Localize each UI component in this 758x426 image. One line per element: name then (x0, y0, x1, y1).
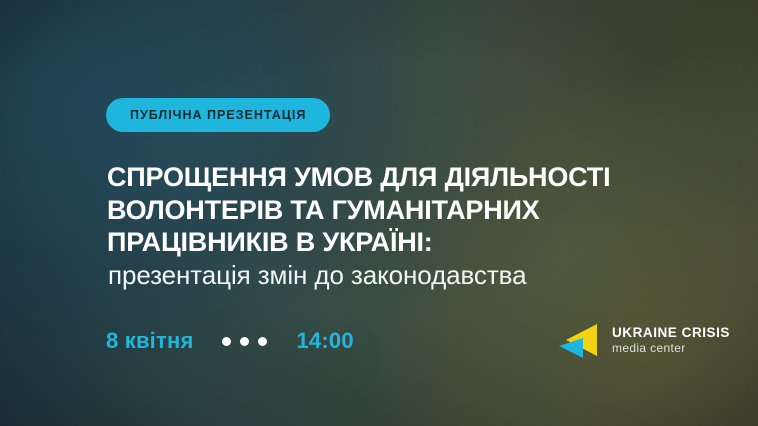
headline-line-1: СПРОЩЕННЯ УМОВ ДЛЯ ДІЯЛЬНОСТІ (107, 161, 707, 194)
headline-line-3: ПРАЦІВНИКІВ В УКРАЇНІ: (107, 226, 707, 259)
separator-dot (222, 337, 231, 346)
event-date: 8 квітня (106, 328, 194, 354)
separator-dot (240, 337, 249, 346)
dots-separator-icon (222, 337, 267, 346)
arrow-mark-icon (553, 318, 601, 362)
separator-dot (258, 337, 267, 346)
event-time: 14:00 (297, 328, 354, 354)
logo-subtitle: media center (612, 342, 730, 354)
ukraine-crisis-media-center-logo: UKRAINE CRISIS media center (553, 318, 730, 362)
page-title: СПРОЩЕННЯ УМОВ ДЛЯ ДІЯЛЬНОСТІ ВОЛОНТЕРІВ… (107, 161, 707, 259)
logo-title: UKRAINE CRISIS (612, 326, 730, 340)
logo-wordmark: UKRAINE CRISIS media center (612, 326, 730, 355)
event-poster: ПУБЛІЧНА ПРЕЗЕНТАЦІЯ СПРОЩЕННЯ УМОВ ДЛЯ … (0, 0, 758, 426)
event-meta-row: 8 квітня 14:00 (106, 326, 354, 356)
page-subtitle: презентація змін до законодавства (108, 258, 526, 292)
headline-line-2: ВОЛОНТЕРІВ ТА ГУМАНІТАРНИХ (107, 194, 707, 227)
poster-content: ПУБЛІЧНА ПРЕЗЕНТАЦІЯ СПРОЩЕННЯ УМОВ ДЛЯ … (0, 0, 758, 426)
event-type-badge: ПУБЛІЧНА ПРЕЗЕНТАЦІЯ (106, 98, 330, 132)
